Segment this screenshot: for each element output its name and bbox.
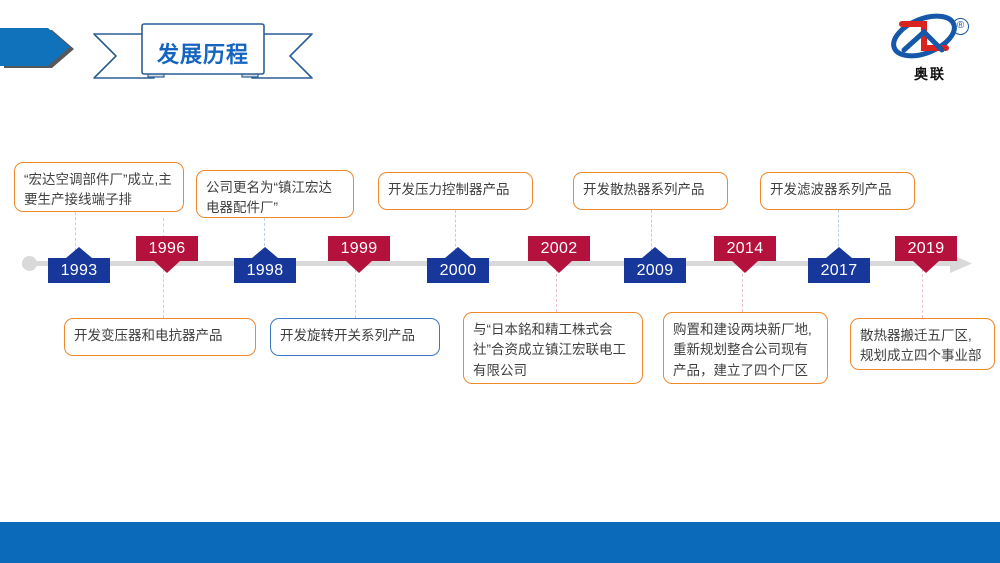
marker-year-label: 1993 <box>61 262 98 280</box>
timeline-marker-1993[interactable]: 1993 <box>48 258 110 283</box>
marker-year-label: 1996 <box>149 240 186 258</box>
marker-year-label: 1999 <box>341 240 378 258</box>
timeline-marker-2002[interactable]: 2002 <box>528 236 590 261</box>
marker-pointer-icon <box>913 261 939 273</box>
page-title: 发展历程 <box>144 28 262 78</box>
marker-pointer-icon <box>546 261 572 273</box>
timeline-marker-2009[interactable]: 2009 <box>624 258 686 283</box>
timeline-event-box-top-3[interactable]: 开发散热器系列产品 <box>573 172 728 210</box>
marker-pointer-icon <box>732 261 758 273</box>
timeline-event-box-bottom-0[interactable]: 开发变压器和电抗器产品 <box>64 318 256 356</box>
timeline-marker-1998[interactable]: 1998 <box>234 258 296 283</box>
registered-trademark-icon: ® <box>952 18 969 35</box>
brand-name: 奥联 <box>880 64 980 84</box>
timeline-event-box-top-4[interactable]: 开发滤波器系列产品 <box>760 172 915 210</box>
marker-pointer-icon <box>66 247 92 258</box>
marker-year-label: 2017 <box>821 262 858 280</box>
ribbon-banner-icon: 发展历程 <box>92 22 314 84</box>
marker-pointer-icon <box>346 261 372 273</box>
timeline-event-box-bottom-1[interactable]: 开发旋转开关系列产品 <box>270 318 440 356</box>
timeline-marker-2019[interactable]: 2019 <box>895 236 957 261</box>
brand-logo: ® 奥联 <box>880 8 980 86</box>
marker-year-label: 1998 <box>247 262 284 280</box>
timeline-connector-1 <box>163 218 164 238</box>
marker-year-label: 2002 <box>541 240 578 258</box>
timeline-marker-2017[interactable]: 2017 <box>808 258 870 283</box>
marker-year-label: 2009 <box>637 262 674 280</box>
aolian-swirl-icon <box>880 8 980 70</box>
marker-pointer-icon <box>826 247 852 258</box>
marker-pointer-icon <box>154 261 180 273</box>
timeline-event-box-top-2[interactable]: 开发压力控制器产品 <box>378 172 533 210</box>
marker-pointer-icon <box>445 247 471 258</box>
timeline-marker-1996[interactable]: 1996 <box>136 236 198 261</box>
marker-pointer-icon <box>252 247 278 258</box>
timeline-marker-2000[interactable]: 2000 <box>427 258 489 283</box>
timeline-event-box-bottom-4[interactable]: 散热器搬迁五厂区,规划成立四个事业部 <box>850 318 995 370</box>
timeline-event-box-bottom-3[interactable]: 购置和建设两块新厂地,重新规划整合公司现有产品，建立了四个厂区 <box>663 312 828 384</box>
timeline-marker-2014[interactable]: 2014 <box>714 236 776 261</box>
footer-bar <box>0 522 1000 563</box>
marker-year-label: 2000 <box>440 262 477 280</box>
marker-year-label: 2019 <box>908 240 945 258</box>
timeline-event-box-top-0[interactable]: “宏达空调部件厂”成立,主要生产接线端子排 <box>14 162 184 212</box>
timeline-event-box-top-1[interactable]: 公司更名为“镇江宏达电器配件厂” <box>196 170 354 218</box>
marker-year-label: 2014 <box>727 240 764 258</box>
marker-pointer-icon <box>642 247 668 258</box>
timeline-event-box-bottom-2[interactable]: 与“日本銘和精工株式会社”合资成立镇江宏联电工有限公司 <box>463 312 643 384</box>
timeline-marker-1999[interactable]: 1999 <box>328 236 390 261</box>
slide-canvas: 发展历程 ® 奥联 199319961998199920002002200920… <box>0 0 1000 563</box>
